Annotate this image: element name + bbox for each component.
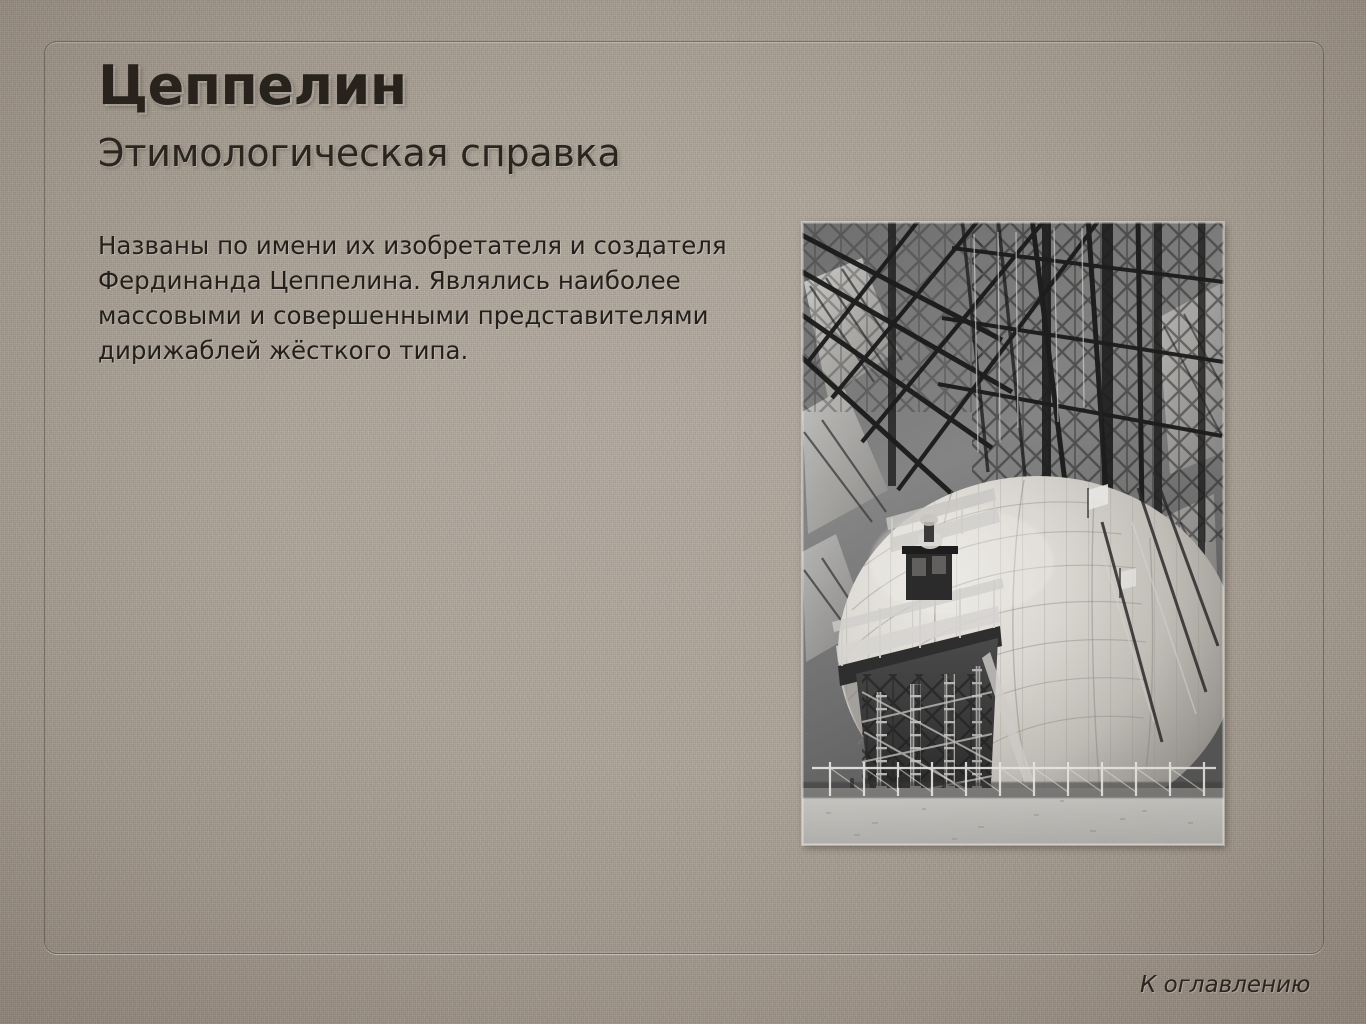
slide-canvas: Цеппелин Этимологическая справка Названы…: [0, 0, 1366, 1024]
back-to-contents-link[interactable]: К оглавлению: [1140, 971, 1310, 999]
page-subtitle: Этимологическая справка: [98, 130, 621, 176]
page-title: Цеппелин: [98, 56, 407, 116]
zeppelin-in-hangar-photo: [802, 222, 1224, 845]
body-paragraph: Названы по имени их изобретателя и созда…: [98, 228, 758, 368]
